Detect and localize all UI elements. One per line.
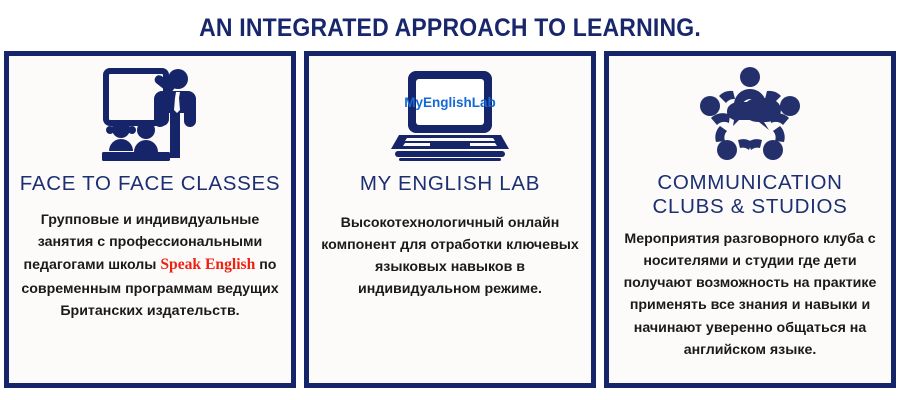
panel-heading: COMMUNICATIONCLUBS & STUDIOS — [652, 171, 847, 219]
panel-face-to-face-classes: FACE TO FACE CLASSES Групповые и индивид… — [4, 51, 296, 388]
teacher-whiteboard-icon — [96, 62, 204, 170]
poster: AN INTEGRATED APPROACH TO LEARNING. — [0, 0, 900, 400]
panel-heading-line-2: CLUBS & STUDIOS — [652, 195, 847, 218]
panel-heading-line-1: COMMUNICATION — [657, 171, 842, 194]
panel-my-english-lab: MyEnglishLab MY ENGLISH LAB Высокотехнол… — [304, 51, 596, 388]
panel-body: Мероприятия разговорного клуба с носител… — [615, 228, 885, 361]
communication-circle-icon — [697, 62, 803, 170]
laptop-icon: MyEnglishLab — [385, 62, 515, 170]
panel-body: Групповые и индивидуальные занятия с про… — [15, 209, 285, 322]
brand-name: Speak English — [160, 256, 255, 273]
panel-communication-clubs-studios: COMMUNICATIONCLUBS & STUDIOS Мероприятия… — [604, 51, 896, 388]
panel-body: Высокотехнологичный онлайн компонент для… — [315, 212, 585, 301]
laptop-screen-logo-text: MyEnglishLab — [404, 95, 496, 110]
panel-heading: MY ENGLISH LAB — [360, 172, 540, 196]
page-title: AN INTEGRATED APPROACH TO LEARNING. — [36, 0, 864, 41]
panel-heading: FACE TO FACE CLASSES — [20, 172, 280, 196]
panel-row: FACE TO FACE CLASSES Групповые и индивид… — [0, 41, 900, 393]
